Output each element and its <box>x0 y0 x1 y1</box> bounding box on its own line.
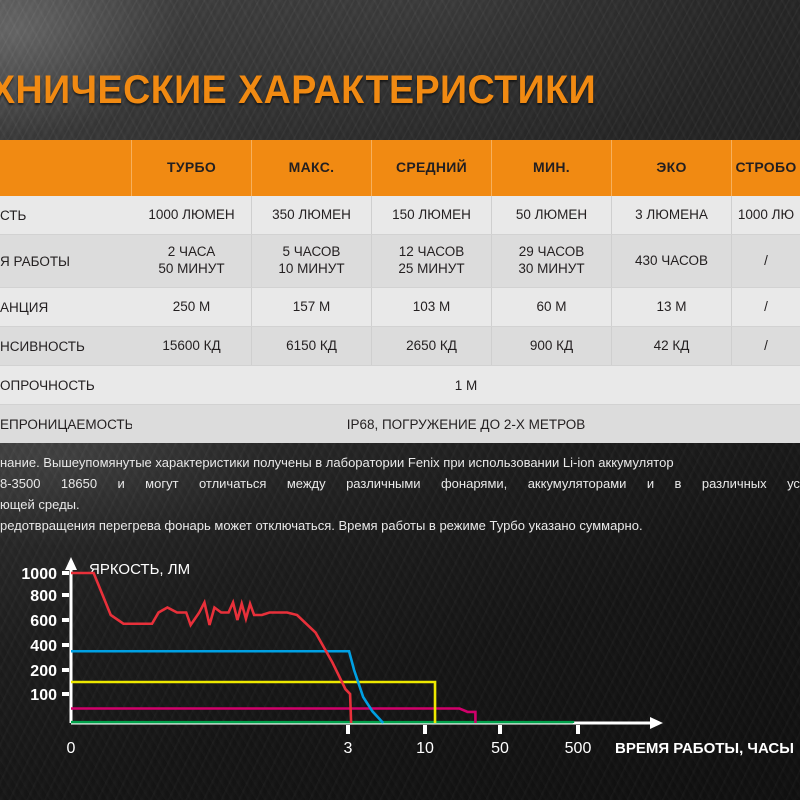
x-tick-label: 500 <box>565 740 592 757</box>
cell-intensity-medium: 2650 КД <box>372 327 492 365</box>
y-tick-label: 600 <box>30 613 57 630</box>
cell-runtime-turbo: 2 ЧАСА 50 МИНУТ <box>132 235 252 287</box>
cell-luminosity-eco: 3 ЛЮМЕНА <box>612 196 732 234</box>
cell-luminosity-min: 50 ЛЮМЕН <box>492 196 612 234</box>
chart-series-350 <box>71 651 383 723</box>
column-header-turbo: ТУРБО <box>132 140 252 196</box>
chart-series-3 <box>71 722 573 723</box>
cell-runtime-eco: 430 ЧАСОВ <box>612 235 732 287</box>
y-axis-title: ЯРКОСТЬ, ЛМ <box>89 561 190 578</box>
cell-distance-medium: 103 М <box>372 288 492 326</box>
x-tick-label: 10 <box>416 740 434 757</box>
x-tick-label: 3 <box>344 740 353 757</box>
column-header-min: МИН. <box>492 140 612 196</box>
cell-distance-eco: 13 М <box>612 288 732 326</box>
cell-water-resistance-value: IP68, ПОГРУЖЕНИЕ ДО 2-Х МЕТРОВ <box>132 405 800 443</box>
cell-runtime-max: 5 ЧАСОВ 10 МИНУТ <box>252 235 372 287</box>
row-label-impact-resistance: ОПРОЧНОСТЬ <box>0 366 132 404</box>
cell-intensity-max: 6150 КД <box>252 327 372 365</box>
row-label-intensity: НСИВНОСТЬ <box>0 327 132 365</box>
cell-distance-strobe: / <box>732 288 800 326</box>
cell-luminosity-max: 350 ЛЮМЕН <box>252 196 372 234</box>
x-axis-title: ВРЕМЯ РАБОТЫ, ЧАСЫ <box>615 740 794 757</box>
cell-distance-max: 157 М <box>252 288 372 326</box>
cell-intensity-min: 900 КД <box>492 327 612 365</box>
footnote-line-1: нание. Вышеупомянутые характеристики пол… <box>0 452 800 473</box>
footnote-line-4: редотвращения перегрева фонарь может отк… <box>0 515 800 536</box>
cell-luminosity-strobe: 1000 ЛЮ <box>732 196 800 234</box>
table-header-row: ТУРБО МАКС. СРЕДНИЙ МИН. ЭКО СТРОБО <box>0 140 800 196</box>
column-header-strobe: СТРОБО <box>732 140 800 196</box>
runtime-chart: 1002004006008001000031050500ЯРКОСТЬ, ЛМВ… <box>0 545 800 800</box>
column-header-medium: СРЕДНИЙ <box>372 140 492 196</box>
row-label-water-resistance: ЕПРОНИЦАЕМОСТЬ <box>0 405 132 443</box>
column-header-eco: ЭКО <box>612 140 732 196</box>
cell-distance-turbo: 250 М <box>132 288 252 326</box>
chart-series-150 <box>71 682 435 723</box>
y-tick-label: 400 <box>30 638 57 655</box>
specifications-table: ТУРБО МАКС. СРЕДНИЙ МИН. ЭКО СТРОБО СТЬ … <box>0 140 800 443</box>
row-label-distance: АНЦИЯ <box>0 288 132 326</box>
footnotes: нание. Вышеупомянутые характеристики пол… <box>0 452 800 536</box>
footnote-line-3: ющей среды. <box>0 494 800 515</box>
cell-runtime-strobe: / <box>732 235 800 287</box>
y-tick-label: 200 <box>30 663 57 680</box>
x-tick-label: 0 <box>67 740 76 757</box>
x-tick-label: 50 <box>491 740 509 757</box>
table-row: СТЬ 1000 ЛЮМЕН 350 ЛЮМЕН 150 ЛЮМЕН 50 ЛЮ… <box>0 196 800 234</box>
runtime-chart-svg: 1002004006008001000031050500ЯРКОСТЬ, ЛМВ… <box>0 545 800 800</box>
x-axis-arrow <box>650 717 663 729</box>
chart-series-1000 <box>71 573 351 723</box>
y-tick-label: 1000 <box>21 566 57 583</box>
y-axis-arrow <box>65 557 77 570</box>
y-tick-label: 800 <box>30 588 57 605</box>
footnote-line-2: 8-350018650имогутотличатьсямеждуразличны… <box>0 473 800 494</box>
row-label-runtime: Я РАБОТЫ <box>0 235 132 287</box>
column-header-max: МАКС. <box>252 140 372 196</box>
cell-impact-resistance-value: 1 М <box>132 366 800 404</box>
page-title-container: ХНИЧЕСКИЕ ХАРАКТЕРИСТИКИ <box>0 68 800 128</box>
table-row: АНЦИЯ 250 М 157 М 103 М 60 М 13 М / <box>0 287 800 326</box>
table-row: ЕПРОНИЦАЕМОСТЬ IP68, ПОГРУЖЕНИЕ ДО 2-Х М… <box>0 404 800 443</box>
cell-luminosity-medium: 150 ЛЮМЕН <box>372 196 492 234</box>
chart-series-50 <box>71 709 475 724</box>
cell-intensity-strobe: / <box>732 327 800 365</box>
cell-intensity-turbo: 15600 КД <box>132 327 252 365</box>
table-header-label-cell <box>0 140 132 196</box>
cell-luminosity-turbo: 1000 ЛЮМЕН <box>132 196 252 234</box>
cell-runtime-medium: 12 ЧАСОВ 25 МИНУТ <box>372 235 492 287</box>
y-tick-label: 100 <box>30 687 57 704</box>
cell-runtime-min: 29 ЧАСОВ 30 МИНУТ <box>492 235 612 287</box>
cell-intensity-eco: 42 КД <box>612 327 732 365</box>
table-row: Я РАБОТЫ 2 ЧАСА 50 МИНУТ 5 ЧАСОВ 10 МИНУ… <box>0 234 800 287</box>
table-row: ОПРОЧНОСТЬ 1 М <box>0 365 800 404</box>
cell-distance-min: 60 М <box>492 288 612 326</box>
row-label-luminosity: СТЬ <box>0 196 132 234</box>
page-title: ХНИЧЕСКИЕ ХАРАКТЕРИСТИКИ <box>0 68 596 113</box>
table-row: НСИВНОСТЬ 15600 КД 6150 КД 2650 КД 900 К… <box>0 326 800 365</box>
